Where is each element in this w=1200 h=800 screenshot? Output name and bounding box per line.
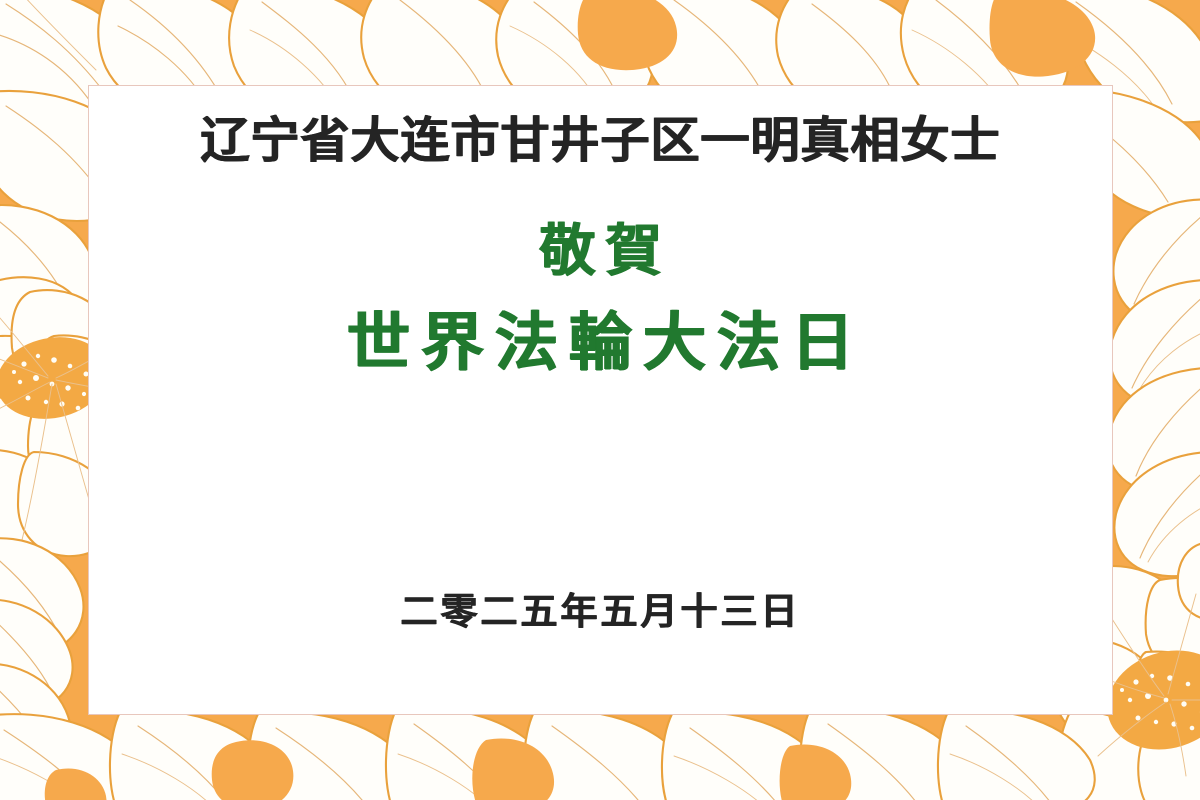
inner-card-panel: 辽宁省大连市甘井子区一明真相女士 敬賀 世界法輪大法日 二零二五年五月十三日 (88, 85, 1113, 715)
date-line: 二零二五年五月十三日 (147, 591, 1054, 632)
salutation-line: 敬賀 (147, 221, 1054, 283)
main-title-line: 世界法輪大法日 (147, 308, 1054, 377)
card-content: 辽宁省大连市甘井子区一明真相女士 敬賀 世界法輪大法日 二零二五年五月十三日 (89, 86, 1112, 714)
recipient-line: 辽宁省大连市甘井子区一明真相女士 (147, 112, 1054, 169)
greeting-card: .pet { fill:#FFFEFA; stroke:#E9A13C; str… (0, 0, 1200, 800)
